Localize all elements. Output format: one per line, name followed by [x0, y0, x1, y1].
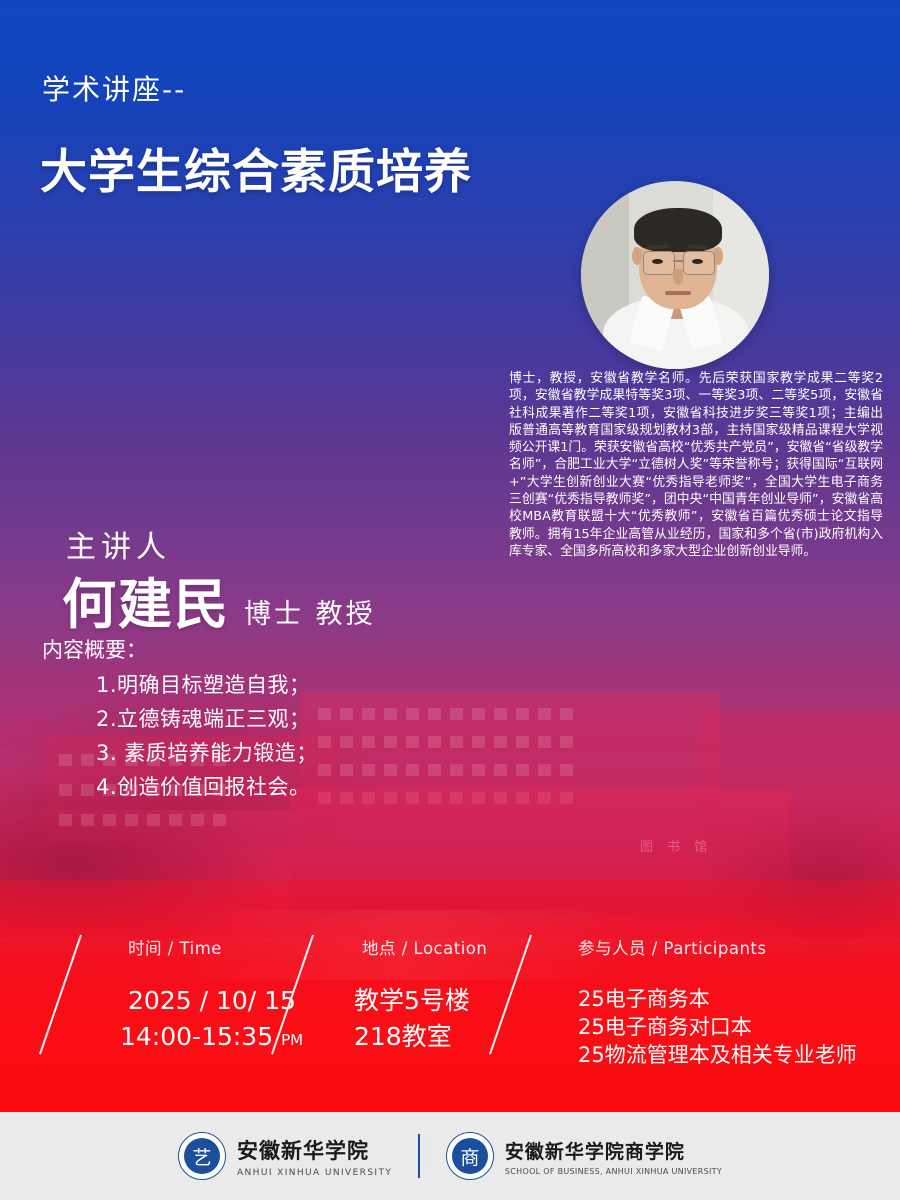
participants-line: 25物流管理本及相关专业老师 [578, 1041, 857, 1069]
business-school-name-cn: 安徽新华学院商学院 [505, 1137, 722, 1164]
poster-title: 大学生综合素质培养 [40, 133, 472, 202]
slash-divider-participants [489, 935, 532, 1055]
university-name-en: ANHUI XINHUA UNIVERSITY [237, 1168, 392, 1178]
outline-item: 2.立德铸魂端正三观； [96, 702, 318, 736]
info-location: 地点 / Location 教学5号楼 218教室 [312, 935, 487, 1055]
outline-item: 3. 素质培养能力锻造； [96, 736, 318, 770]
location-label: 地点 / Location [362, 935, 487, 959]
outline-item: 1.明确目标塑造自我； [96, 668, 318, 702]
info-time: 时间 / Time 2025 / 10/ 15 14:00-15:35 PM [80, 935, 303, 1058]
business-school-logo: 商 安徽新华学院商学院 SCHOOL OF BUSINESS, ANHUI XI… [446, 1132, 722, 1180]
business-school-seal-icon: 商 [446, 1132, 494, 1180]
library-sign: 图 书 馆 [640, 836, 712, 855]
speaker-name-row: 何建民 博士 教授 [62, 560, 376, 639]
outline-list: 1.明确目标塑造自我； 2.立德铸魂端正三观； 3. 素质培养能力锻造； 4.创… [96, 668, 318, 804]
speaker-portrait [581, 181, 769, 369]
participants-line: 25电子商务本 [578, 985, 857, 1013]
time-date: 2025 / 10/ 15 [128, 983, 303, 1019]
participants-label: 参与人员 / Participants [578, 935, 857, 959]
university-seal-mark: 艺 [184, 1138, 220, 1174]
outline-item: 4.创造价值回报社会。 [96, 770, 318, 804]
speaker-name: 何建民 [62, 560, 230, 639]
speaker-bio: 博士，教授，安徽省教学名师。先后荣获国家教学成果二等奖2项，安徽省教学成果特等奖… [509, 370, 883, 560]
poster-subtitle: 学术讲座-- [42, 68, 186, 108]
info-participants: 参与人员 / Participants 25电子商务本 25电子商务对口本 25… [530, 935, 857, 1069]
university-seal-icon: 艺 [178, 1132, 226, 1180]
time-label: 时间 / Time [128, 935, 303, 959]
university-logo: 艺 安徽新华学院 ANHUI XINHUA UNIVERSITY [178, 1132, 392, 1180]
time-range-value: 14:00-15:35 [120, 1022, 273, 1051]
speaker-titles: 博士 教授 [244, 592, 376, 631]
time-period: PM [281, 1031, 303, 1049]
participants-line: 25电子商务对口本 [578, 1013, 857, 1041]
location-building: 教学5号楼 [354, 983, 487, 1019]
slash-divider-time [39, 935, 82, 1055]
footer-divider [418, 1134, 420, 1178]
location-room: 218教室 [354, 1019, 487, 1055]
business-school-seal-mark: 商 [452, 1138, 488, 1174]
outline-heading: 内容概要： [42, 634, 147, 664]
footer: 艺 安徽新华学院 ANHUI XINHUA UNIVERSITY 商 安徽新华学… [0, 1112, 900, 1200]
business-school-name-en: SCHOOL OF BUSINESS, ANHUI XINHUA UNIVERS… [505, 1167, 722, 1176]
info-bar: 时间 / Time 2025 / 10/ 15 14:00-15:35 PM 地… [0, 925, 900, 1095]
poster: 图 书 馆 学术讲座-- 大学生综合素质培养 博士，教授，安徽省教学名师。先后荣… [0, 0, 900, 1200]
university-name-cn: 安徽新华学院 [237, 1135, 392, 1165]
